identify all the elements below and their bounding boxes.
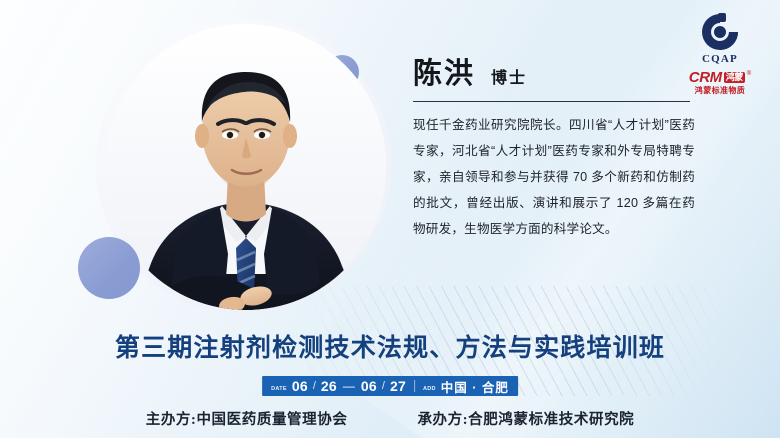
cqap-emblem-icon [700, 12, 740, 52]
speaker-portrait [106, 24, 386, 310]
date-end-month: 06 [361, 378, 377, 394]
event-organizers: 主办方:中国医药质量管理协会 承办方:合肥鸿蒙标准技术研究院 [0, 408, 780, 429]
date-start-day: 26 [321, 378, 337, 394]
speaker-info: 陈洪 博士 现任千金药业研究院院长。四川省“人才计划”医药专家，河北省“人才计划… [413, 50, 695, 242]
date-label: Date [271, 386, 287, 392]
speaker-name-row: 陈洪 博士 [413, 50, 695, 92]
event-location: 中国 · 合肥 [441, 377, 509, 396]
crm-badge: 鸿蒙 [724, 72, 745, 83]
speaker-divider [413, 101, 690, 102]
speaker-biography: 现任千金药业研究院院长。四川省“人才计划”医药专家，河北省“人才计划”医药专家和… [413, 112, 695, 242]
speaker-name: 陈洪 [413, 50, 475, 92]
host-organization: 主办方:中国医药质量管理协会 [146, 408, 348, 429]
accent-dot-bottom [78, 237, 140, 299]
crm-subtitle: 鸿蒙标准物质 [695, 87, 745, 95]
event-title: 第三期注射剂检测技术法规、方法与实践培训班 [0, 328, 780, 364]
date-end-day: 27 [390, 378, 406, 394]
meta-divider [414, 380, 415, 392]
speaker-title: 博士 [491, 64, 527, 88]
date-slash-end: / [382, 380, 385, 392]
date-slash-start: / [313, 380, 316, 392]
speaker-portrait-image [106, 24, 386, 310]
registered-mark-icon: ® [747, 71, 751, 77]
address-label: Add [423, 386, 436, 392]
event-meta-bar: Date 06 / 26 — 06 / 27 Add 中国 · 合肥 [262, 376, 518, 396]
date-start-month: 06 [292, 378, 308, 394]
organizing-institute: 承办方:合肥鸿蒙标准技术研究院 [417, 408, 634, 429]
event-block: 第三期注射剂检测技术法规、方法与实践培训班 Date 06 / 26 — 06 … [0, 308, 780, 438]
crm-logo-row: CRM 鸿蒙 ® [689, 70, 751, 85]
event-poster: CQAP CRM 鸿蒙 ® 鸿蒙标准物质 陈洪 博士 现任千金药业研究院院长。四… [0, 0, 780, 438]
date-range-separator: — [342, 379, 356, 393]
